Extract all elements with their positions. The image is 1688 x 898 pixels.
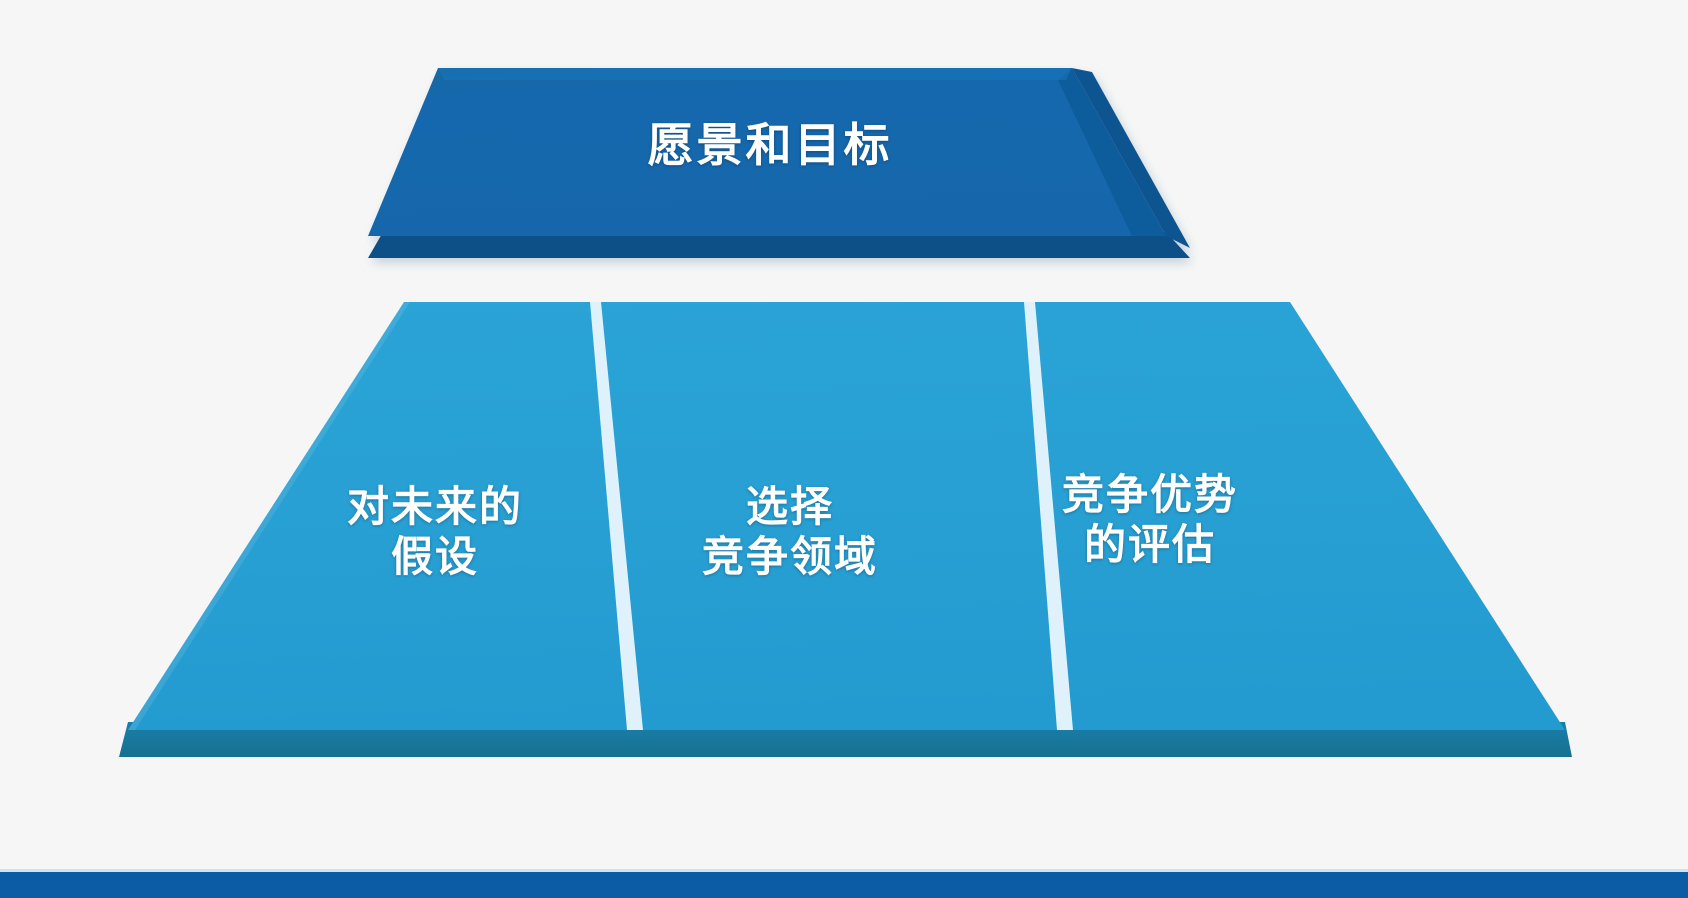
slide-canvas: 愿景和目标 对未来的 假设 选择 竞争领域 竞争优势 的评估: [0, 0, 1688, 898]
top-block-group: [368, 68, 1190, 258]
footer-accent-bar: [0, 872, 1688, 898]
top-block-highlight: [438, 68, 1072, 80]
diagram-graphics: [0, 0, 1688, 898]
base-shadow-strip: [119, 757, 1572, 763]
base-block-group: [119, 302, 1572, 757]
top-block-face: [368, 68, 1166, 236]
base-block-face: [128, 302, 1565, 730]
